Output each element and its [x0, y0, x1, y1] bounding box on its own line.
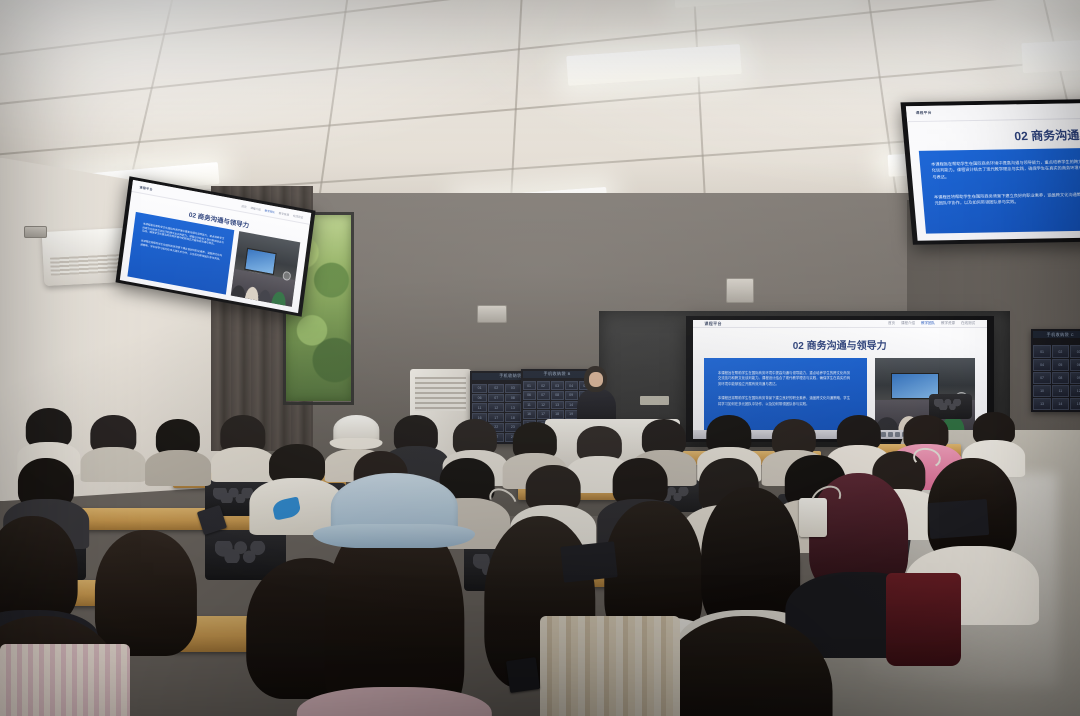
slide-photo — [231, 232, 300, 307]
pocket-cell: 18 — [551, 410, 564, 419]
slide-logo: 课程平台 — [704, 321, 722, 327]
pocket-cell: 17 — [537, 410, 550, 419]
pocket-cell: 06 — [472, 394, 488, 403]
menu-item-intro[interactable]: 课程介绍 — [901, 321, 915, 326]
pocket-cell: 18 — [505, 413, 521, 422]
pocket-cell: 13 — [551, 401, 564, 410]
tablet[interactable] — [928, 499, 990, 539]
pocket-cell: 14 — [1052, 398, 1069, 410]
taskbar-icon[interactable] — [888, 432, 893, 438]
wall-speaker — [726, 278, 754, 303]
pocket-cell: 13 — [505, 403, 521, 412]
menu-item-quiz[interactable]: 在线测试 — [293, 214, 304, 220]
pocket-cell: 06 — [523, 391, 536, 400]
slide-right: 课程平台 02 商务沟通与领导力 本课程旨在帮助学生在国际商务环境中提高沟通与领… — [906, 103, 1080, 241]
pocket-cell: 14 — [565, 401, 578, 410]
slide-paragraph: 本课程还将帮助学生在国际商务背景下建立良好的职业素养，涵盖跨文化沟通策略、学生将… — [718, 396, 853, 407]
student — [151, 419, 205, 483]
chalk-tray-marker — [640, 396, 669, 406]
pocket-cell: 08 — [505, 394, 521, 403]
slide-menu-bar: 课程平台 首页 课程介绍 教学团队 教学资源 在线测试 — [693, 320, 987, 328]
menu-item-resources[interactable]: 教学资源 — [941, 321, 955, 326]
smartphone[interactable] — [505, 657, 539, 693]
pocket-cell: 06 — [1070, 359, 1080, 371]
pocket-cell: 12 — [488, 403, 504, 412]
shoulders — [81, 447, 146, 482]
slide-text-panel: 本课程旨在帮助学生在国际商务环境中提高沟通与领导能力，重点培养学生的跨文化商务交… — [919, 147, 1080, 234]
pocket-cell: 02 — [488, 384, 504, 393]
tablet[interactable] — [560, 541, 617, 582]
cap-brim — [330, 438, 383, 448]
hair — [658, 616, 833, 716]
plaid-tote-bag — [540, 616, 680, 716]
pocket-cell: 08 — [1052, 372, 1069, 384]
slide-paragraph: 本课程还将帮助学生在国际商务背景下建立良好的职业素养，涵盖跨文化沟通策略、学生将… — [934, 191, 1080, 207]
pocket-cell: 07 — [537, 391, 550, 400]
pocket-cell: 11 — [472, 403, 488, 412]
ceiling-mount-bracket — [24, 226, 48, 238]
slide-logo: 课程平台 — [139, 185, 153, 191]
pocket-cell: 08 — [551, 391, 564, 400]
pocket-cell: 19 — [565, 410, 578, 419]
pocket-cell: 03 — [505, 384, 521, 393]
menu-item-home[interactable]: 首页 — [241, 204, 247, 209]
pocket-cell: 16 — [523, 410, 536, 419]
slide-logo: 课程平台 — [916, 111, 932, 116]
pocket-cell: 12 — [537, 401, 550, 410]
menu-item-quiz[interactable]: 在线测试 — [961, 321, 975, 326]
phone-pocket-board[interactable]: 手机收纳袋 C 010203 040506 070809 101112 1314… — [1031, 329, 1080, 412]
pocket-cell: 11 — [523, 401, 536, 410]
pocket-cell: 13 — [1033, 398, 1050, 410]
pocket-cell: 02 — [1052, 345, 1069, 357]
pocket-cell: 01 — [472, 384, 488, 393]
pocket-board-label: 手机收纳袋 B — [523, 371, 592, 378]
menu-item-intro[interactable]: 课程介绍 — [250, 206, 261, 212]
pocket-cell: 03 — [551, 381, 564, 390]
pocket-cell: 09 — [565, 391, 578, 400]
menu-item-home[interactable]: 首页 — [888, 321, 895, 326]
slide-paragraph: 本课程旨在帮助学生在国际商务环境中提高沟通与领导能力，重点培养学生的跨文化商务交… — [718, 371, 853, 387]
pocket-cell: 09 — [1070, 372, 1080, 384]
pocket-cell: 04 — [565, 381, 578, 390]
right-wall-monitor[interactable]: 课程平台 02 商务沟通与领导力 本课程旨在帮助学生在国际商务环境中提高沟通与领… — [901, 98, 1080, 245]
pocket-cell: 03 — [1070, 345, 1080, 357]
pocket-cell: 12 — [1070, 385, 1080, 397]
presenter-face — [589, 372, 603, 386]
pocket-cell: 04 — [1033, 359, 1050, 371]
hair — [0, 516, 78, 625]
pink-plaid-bag — [0, 644, 130, 716]
pocket-cell: 02 — [537, 381, 550, 390]
slide-paragraph: 本课程旨在帮助学生在国际商务环境中提高沟通与领导能力，重点培养学生的跨文化商务交… — [931, 158, 1080, 181]
menu-item-resources[interactable]: 教学资源 — [279, 211, 290, 217]
slide-body: 本课程旨在帮助学生在国际商务环境中提高沟通与领导能力，重点培养学生的跨文化商务交… — [910, 147, 1080, 241]
pocket-cell: 01 — [523, 381, 536, 390]
student-blue-cap — [313, 473, 475, 716]
shoulders — [145, 450, 211, 486]
pocket-board-label: 手机收纳袋 C — [1033, 331, 1080, 338]
pocket-cell: 15 — [1070, 398, 1080, 410]
menu-item-team[interactable]: 教学团队 — [921, 321, 935, 326]
slide-menu: 首页 课程介绍 教学团队 教学资源 在线测试 — [888, 321, 975, 326]
student — [86, 415, 140, 479]
lecture-hall-photo: 手机收纳袋 A 0102030405 0607080910 1112131415… — [0, 0, 1080, 716]
backpack — [886, 573, 962, 666]
pocket-cell: 01 — [1033, 345, 1050, 357]
cap-brim — [313, 524, 475, 548]
pocket-cell: 05 — [1052, 359, 1069, 371]
wall-speaker — [477, 305, 507, 323]
menu-item-team[interactable]: 教学团队 — [264, 209, 275, 215]
pocket-cell: 10 — [1033, 385, 1050, 397]
slide-title: 02 商务沟通与领导力 — [908, 119, 1080, 151]
slide-title: 02 商务沟通与领导力 — [693, 328, 987, 358]
pocket-cell: 11 — [1052, 385, 1069, 397]
pocket-cell: 07 — [1033, 372, 1050, 384]
pocket-cell: 07 — [488, 394, 504, 403]
